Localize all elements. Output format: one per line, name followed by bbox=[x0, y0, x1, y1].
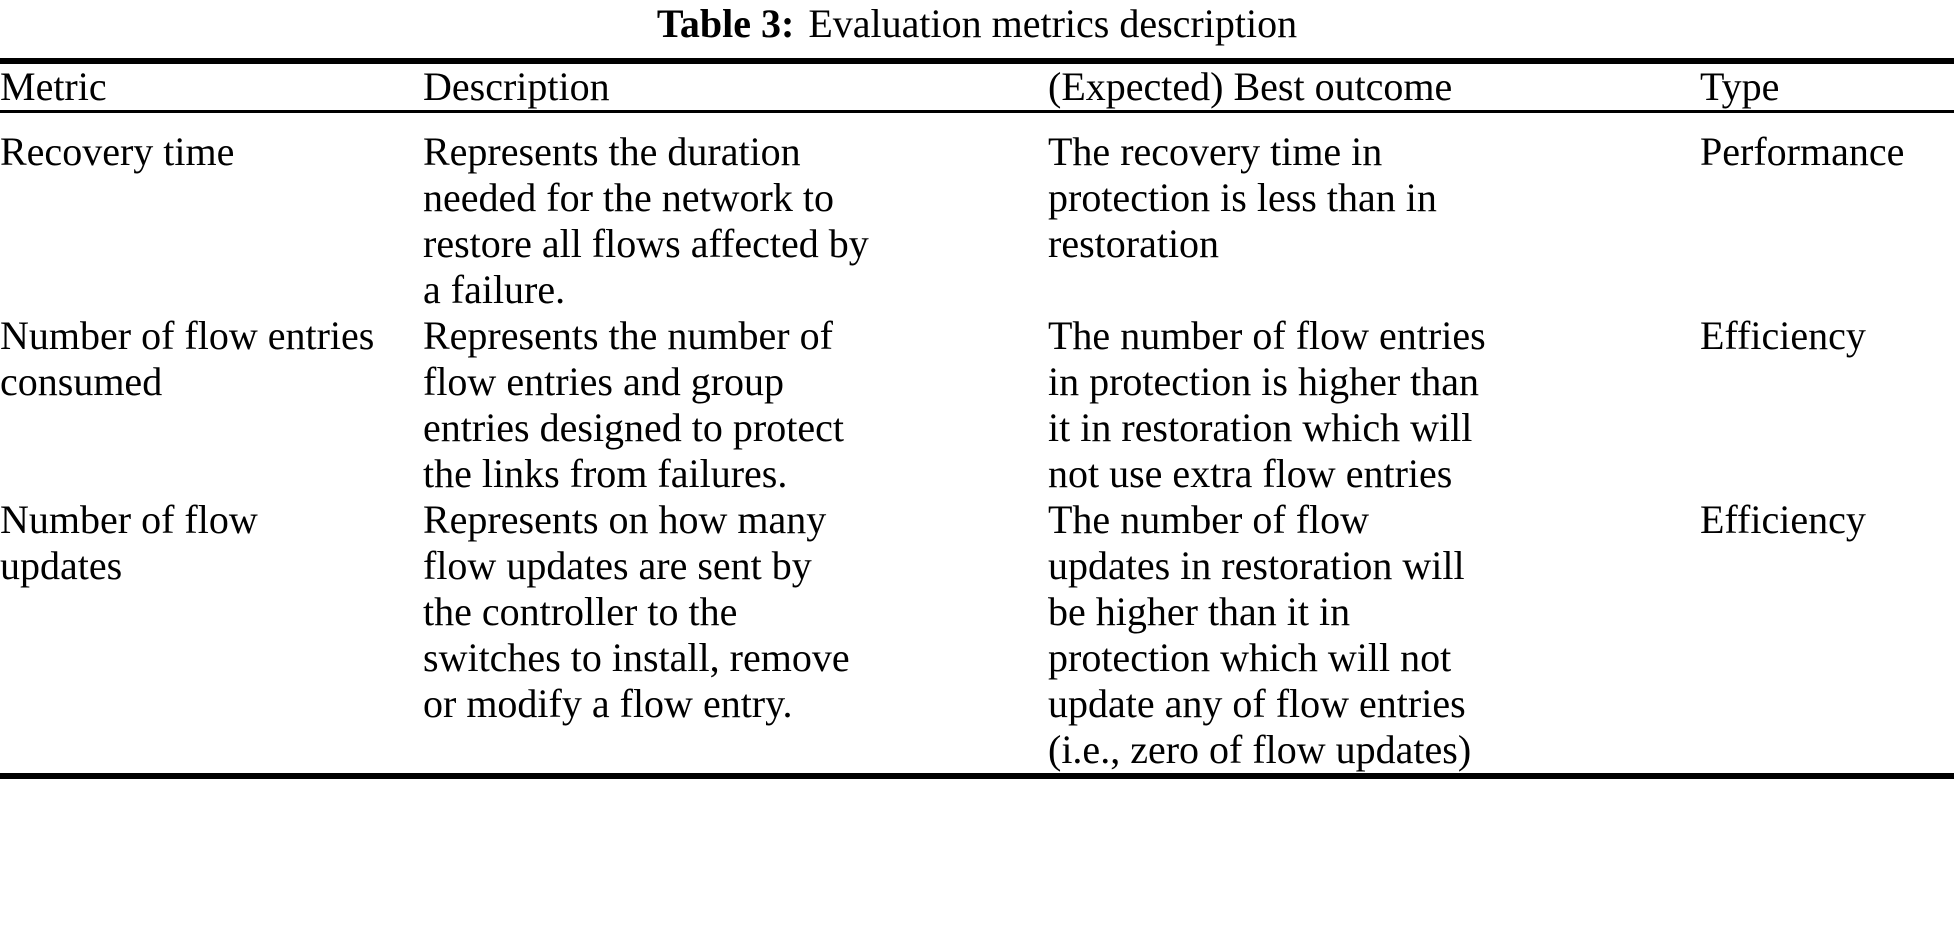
text-line: The number of flow bbox=[1048, 497, 1700, 543]
text-line: Number of flow entries bbox=[0, 313, 423, 359]
table-row: Recovery time Represents the durationnee… bbox=[0, 113, 1954, 313]
cell-best-outcome: The number of flowupdates in restoration… bbox=[1048, 497, 1700, 773]
metric-lines: Recovery time bbox=[0, 129, 423, 175]
text-line: updates bbox=[0, 543, 423, 589]
text-line: the links from failures. bbox=[423, 451, 1048, 497]
cell-type: Efficiency bbox=[1700, 313, 1954, 497]
outcome-lines: The recovery time inprotection is less t… bbox=[1048, 129, 1700, 267]
text-line: a failure. bbox=[423, 267, 1048, 313]
text-line: Represents the number of bbox=[423, 313, 1048, 359]
text-line: Represents on how many bbox=[423, 497, 1048, 543]
cell-metric: Number of flow entriesconsumed bbox=[0, 313, 423, 497]
evaluation-metrics-table: Metric Description (Expected) Best outco… bbox=[0, 64, 1954, 110]
text-line: consumed bbox=[0, 359, 423, 405]
metric-lines: Number of flowupdates bbox=[0, 497, 423, 589]
outcome-lines: The number of flow entriesin protection … bbox=[1048, 313, 1700, 497]
cell-description: Represents the durationneeded for the ne… bbox=[423, 113, 1048, 313]
cell-best-outcome: The number of flow entriesin protection … bbox=[1048, 313, 1700, 497]
text-line: switches to install, remove bbox=[423, 635, 1048, 681]
cell-description: Represents on how manyflow updates are s… bbox=[423, 497, 1048, 773]
table-header-row: Metric Description (Expected) Best outco… bbox=[0, 64, 1954, 110]
description-lines: Represents the number offlow entries and… bbox=[423, 313, 1048, 497]
text-line: in protection is higher than bbox=[1048, 359, 1700, 405]
cell-metric: Number of flowupdates bbox=[0, 497, 423, 773]
table-bottom-rule bbox=[0, 773, 1954, 779]
column-header-description: Description bbox=[423, 64, 1048, 110]
text-line: protection is less than in bbox=[1048, 175, 1700, 221]
text-line: or modify a flow entry. bbox=[423, 681, 1048, 727]
text-line: entries designed to protect bbox=[423, 405, 1048, 451]
cell-best-outcome: The recovery time inprotection is less t… bbox=[1048, 113, 1700, 313]
column-header-type: Type bbox=[1700, 64, 1954, 110]
text-line: restoration bbox=[1048, 221, 1700, 267]
caption-label: Table 3: bbox=[657, 1, 794, 46]
cell-type: Performance bbox=[1700, 113, 1954, 313]
text-line: updates in restoration will bbox=[1048, 543, 1700, 589]
description-lines: Represents on how manyflow updates are s… bbox=[423, 497, 1048, 727]
text-line: The recovery time in bbox=[1048, 129, 1700, 175]
table-figure: Table 3:Evaluation metrics description M… bbox=[0, 0, 1954, 946]
text-line: (i.e., zero of flow updates) bbox=[1048, 727, 1700, 773]
column-header-metric: Metric bbox=[0, 64, 423, 110]
cell-description: Represents the number offlow entries and… bbox=[423, 313, 1048, 497]
caption-text: Evaluation metrics description bbox=[808, 1, 1297, 46]
table-caption: Table 3:Evaluation metrics description bbox=[0, 0, 1954, 58]
cell-type: Efficiency bbox=[1700, 497, 1954, 773]
text-line: needed for the network to bbox=[423, 175, 1048, 221]
table-body: Recovery time Represents the durationnee… bbox=[0, 113, 1954, 773]
text-line: be higher than it in bbox=[1048, 589, 1700, 635]
text-line: Number of flow bbox=[0, 497, 423, 543]
text-line: not use extra flow entries bbox=[1048, 451, 1700, 497]
description-lines: Represents the durationneeded for the ne… bbox=[423, 129, 1048, 313]
text-line: restore all flows affected by bbox=[423, 221, 1048, 267]
column-header-best-outcome: (Expected) Best outcome bbox=[1048, 64, 1700, 110]
table-row: Number of flow entriesconsumed Represent… bbox=[0, 313, 1954, 497]
text-line: Recovery time bbox=[0, 129, 423, 175]
text-line: flow entries and group bbox=[423, 359, 1048, 405]
metric-lines: Number of flow entriesconsumed bbox=[0, 313, 423, 405]
text-line: protection which will not bbox=[1048, 635, 1700, 681]
text-line: the controller to the bbox=[423, 589, 1048, 635]
text-line: it in restoration which will bbox=[1048, 405, 1700, 451]
table-row: Number of flowupdates Represents on how … bbox=[0, 497, 1954, 773]
text-line: The number of flow entries bbox=[1048, 313, 1700, 359]
text-line: flow updates are sent by bbox=[423, 543, 1048, 589]
text-line: update any of flow entries bbox=[1048, 681, 1700, 727]
cell-metric: Recovery time bbox=[0, 113, 423, 313]
outcome-lines: The number of flowupdates in restoration… bbox=[1048, 497, 1700, 773]
evaluation-metrics-body: Recovery time Represents the durationnee… bbox=[0, 113, 1954, 773]
text-line: Represents the duration bbox=[423, 129, 1048, 175]
